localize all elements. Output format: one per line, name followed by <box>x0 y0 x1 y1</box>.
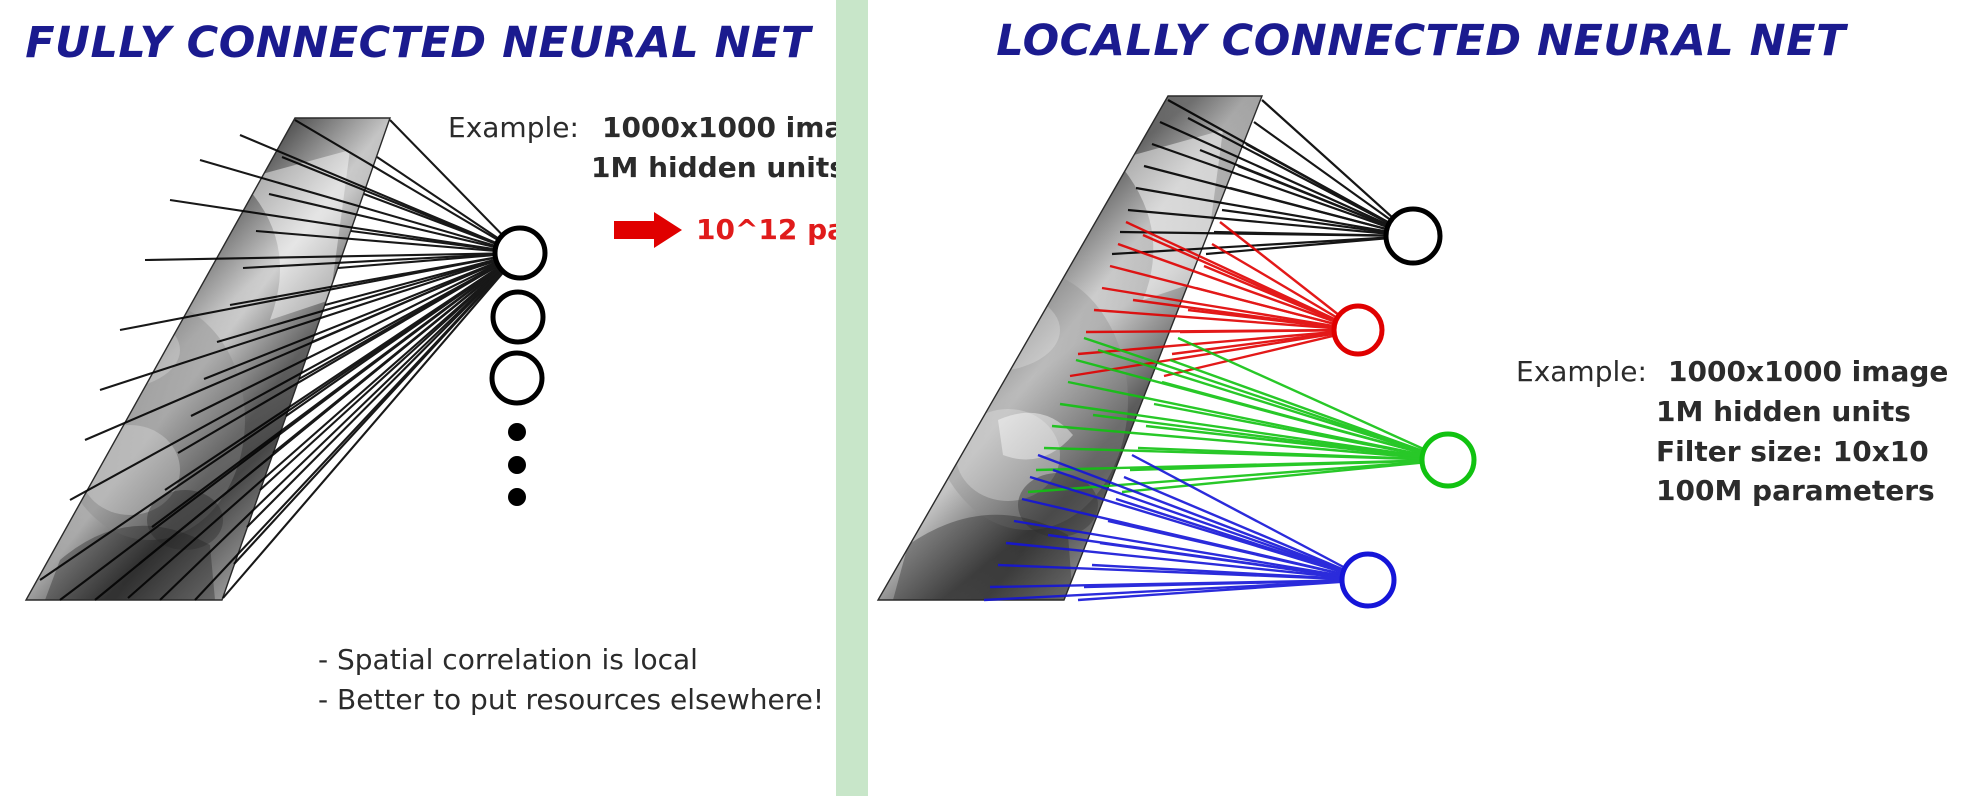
example-block-right: Example: 1000x1000 image 1M hidden units… <box>1516 352 1948 511</box>
neuron-1 <box>495 228 545 278</box>
panel-divider <box>836 0 868 796</box>
example-line-4-right: 100M parameters <box>1656 474 1935 507</box>
neuron-column-left <box>492 228 545 403</box>
panel-fully-connected: FULLY CONNECTED NEURAL NET <box>0 0 836 796</box>
neuron-green <box>1422 434 1474 486</box>
note-line-2: - Better to put resources elsewhere! <box>318 680 824 720</box>
example-block-left: Example: 1000x1000 image 1M hidden units <box>448 108 882 188</box>
neuron-black <box>1386 209 1440 263</box>
neuron-blue <box>1342 554 1394 606</box>
input-image-plane-right <box>878 96 1262 600</box>
neuron-red <box>1334 306 1382 354</box>
neuron-3 <box>492 353 542 403</box>
figure-root: FULLY CONNECTED NEURAL NET <box>0 0 1974 796</box>
panel-locally-connected: LOCALLY CONNECTED NEURAL NET <box>868 0 1974 796</box>
example-line-2-right: 1M hidden units <box>1656 395 1911 428</box>
example-label-right: Example: <box>1516 355 1647 388</box>
right-arrow-icon <box>612 210 684 250</box>
notes-block-left: - Spatial correlation is local - Better … <box>318 640 824 720</box>
example-line-3-right: Filter size: 10x10 <box>1656 435 1929 468</box>
neuron-2 <box>493 292 543 342</box>
ellipsis-dots-left <box>508 423 526 506</box>
note-line-1: - Spatial correlation is local <box>318 640 824 680</box>
example-line-2-left: 1M hidden units <box>591 151 846 184</box>
example-label-left: Example: <box>448 111 579 144</box>
example-line-1-right: 1000x1000 image <box>1668 355 1948 388</box>
